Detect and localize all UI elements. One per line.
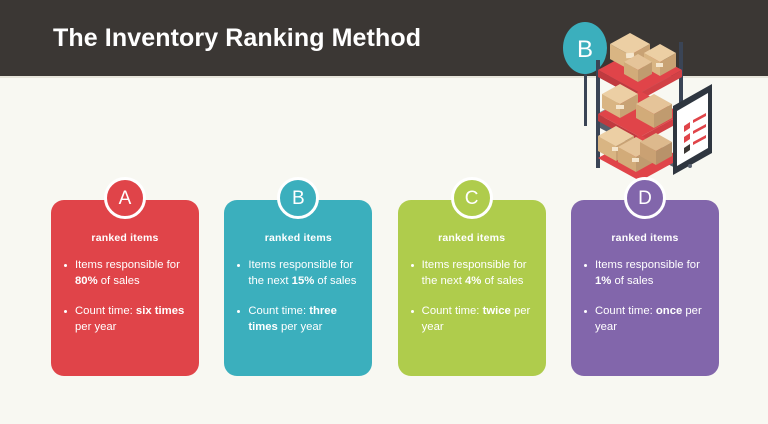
ranking-card-d[interactable]: D ranked items Items responsible for 1% … [571,200,719,376]
list-item: Items responsible for the next 4% of sal… [411,258,535,289]
list-item: Items responsible for the next 15% of sa… [237,258,361,289]
card-bullets-a: Items responsible for 80% of sales Count… [62,258,188,335]
list-item: Count time: twice per year [411,304,535,335]
list-item: Items responsible for 80% of sales [64,258,188,289]
list-item: Count time: six times per year [64,304,188,335]
page-title: The Inventory Ranking Method [53,24,421,53]
card-badge-c: C [451,177,493,219]
card-badge-d: D [624,177,666,219]
svg-text:B: B [577,36,593,63]
card-badge-b: B [277,177,319,219]
card-subtitle-a: ranked items [62,232,188,244]
card-bullets-b: Items responsible for the next 15% of sa… [235,258,361,335]
tablet-checklist-icon [673,84,712,175]
list-item: Items responsible for 1% of sales [584,258,708,289]
ranking-card-c[interactable]: C ranked items Items responsible for the… [398,200,546,376]
ranking-card-b[interactable]: B ranked items Items responsible for the… [224,200,372,376]
card-subtitle-d: ranked items [582,232,708,244]
infographic-canvas: The Inventory Ranking Method B [0,0,768,424]
list-item: Count time: three times per year [237,304,361,335]
card-subtitle-c: ranked items [409,232,535,244]
card-bullets-c: Items responsible for the next 4% of sal… [409,258,535,335]
card-bullets-d: Items responsible for 1% of sales Count … [582,258,708,335]
card-subtitle-b: ranked items [235,232,361,244]
ranking-cards-row: A ranked items Items responsible for 80%… [51,200,719,376]
card-badge-a: A [104,177,146,219]
list-item: Count time: once per year [584,304,708,335]
warehouse-rack-illustration: B [540,8,720,180]
ranking-card-a[interactable]: A ranked items Items responsible for 80%… [51,200,199,376]
